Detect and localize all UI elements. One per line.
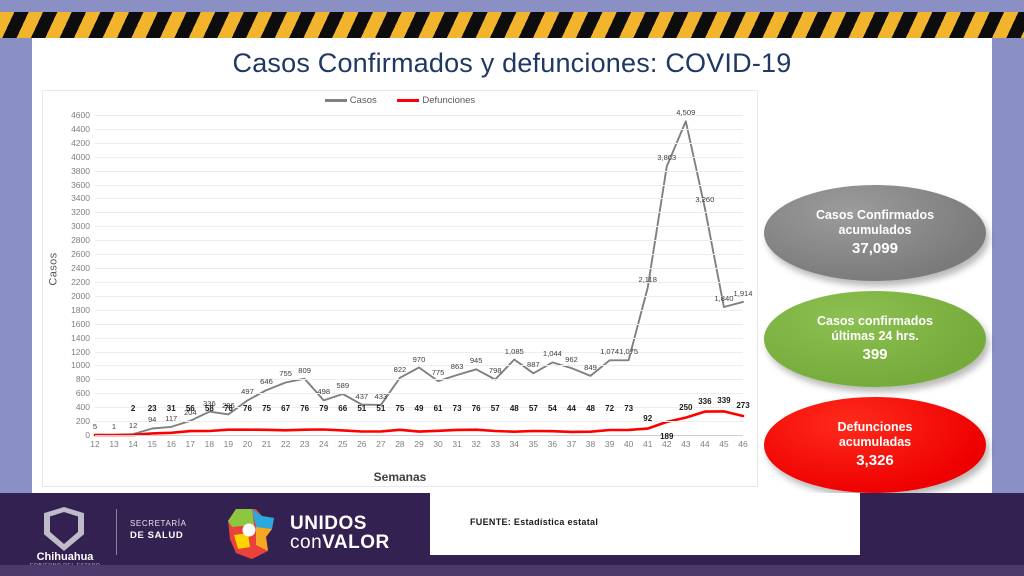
- x-axis-tick: 41: [643, 439, 652, 449]
- y-axis-tick: 2600: [71, 249, 90, 259]
- data-label-defunciones: 54: [548, 404, 557, 413]
- y-axis-tick: 200: [76, 416, 90, 426]
- data-label-casos: 1,075: [619, 347, 638, 356]
- y-axis-tick: 3200: [71, 207, 90, 217]
- data-label-defunciones: 31: [167, 404, 176, 413]
- data-label-casos: 437: [355, 392, 368, 401]
- data-label-casos: 887: [527, 360, 540, 369]
- data-label-defunciones: 273: [736, 401, 749, 410]
- y-axis-tick: 2800: [71, 235, 90, 245]
- data-label-defunciones: 51: [357, 404, 366, 413]
- data-label-defunciones: 67: [281, 404, 290, 413]
- slide-root: Casos Confirmados y defunciones: COVID-1…: [0, 0, 1024, 576]
- data-label-casos: 1,840: [714, 294, 733, 303]
- data-label-defunciones: 73: [453, 404, 462, 413]
- legend-swatch-casos: [325, 99, 347, 102]
- x-axis-tick: 15: [147, 439, 156, 449]
- data-label-defunciones: 23: [148, 404, 157, 413]
- gridline: [95, 157, 743, 158]
- secretaria-line2: DE SALUD: [130, 530, 183, 541]
- legend-item-casos: Casos: [325, 95, 377, 106]
- y-axis-tick: 4600: [71, 110, 90, 120]
- secretaria-line1: SECRETARÍA: [130, 519, 187, 528]
- x-axis-tick: 25: [338, 439, 347, 449]
- x-axis-tick: 30: [433, 439, 442, 449]
- callout-casos-acumulados: Casos Confirmados acumulados 37,099: [764, 185, 986, 281]
- gridline: [95, 115, 743, 116]
- x-axis-tick: 21: [262, 439, 271, 449]
- unidos-con-valor-map-icon: [222, 507, 280, 561]
- x-axis-tick: 14: [128, 439, 137, 449]
- data-label-casos: 822: [394, 365, 407, 374]
- data-label-casos: 849: [584, 363, 597, 372]
- x-axis-tick: 29: [414, 439, 423, 449]
- gridline: [95, 268, 743, 269]
- y-axis-tick: 2200: [71, 277, 90, 287]
- data-label-defunciones: 57: [491, 404, 500, 413]
- x-axis-tick: 44: [700, 439, 709, 449]
- gridline: [95, 226, 743, 227]
- legend-item-defunciones: Defunciones: [397, 95, 475, 106]
- x-axis-tick: 38: [586, 439, 595, 449]
- x-axis-tick: 40: [624, 439, 633, 449]
- x-axis-tick: 43: [681, 439, 690, 449]
- data-label-defunciones: 51: [376, 404, 385, 413]
- data-label-defunciones: 2: [131, 404, 135, 413]
- data-label-casos: 970: [413, 355, 426, 364]
- data-label-defunciones: 48: [510, 404, 519, 413]
- gridline: [95, 185, 743, 186]
- callout-value: 3,326: [856, 452, 894, 470]
- campaign-con-valor: conVALOR: [290, 532, 390, 554]
- data-label-defunciones: 73: [624, 404, 633, 413]
- x-axis-tick: 17: [186, 439, 195, 449]
- y-axis-tick: 1800: [71, 305, 90, 315]
- data-label-casos: 798: [489, 366, 502, 375]
- callout-defunciones-acumuladas: Defunciones acumuladas 3,326: [764, 397, 986, 493]
- x-axis-tick: 28: [395, 439, 404, 449]
- x-axis-tick: 34: [510, 439, 519, 449]
- data-label-casos: 962: [565, 355, 578, 364]
- y-axis-tick: 4400: [71, 124, 90, 134]
- data-label-casos: 1: [112, 422, 116, 431]
- y-axis-tick: 1400: [71, 333, 90, 343]
- x-axis-tick: 36: [548, 439, 557, 449]
- page-title: Casos Confirmados y defunciones: COVID-1…: [32, 48, 992, 79]
- x-axis-tick: 32: [471, 439, 480, 449]
- data-label-casos: 117: [165, 414, 177, 423]
- gridline: [95, 324, 743, 325]
- callout-value: 399: [862, 346, 887, 364]
- x-axis-tick: 26: [357, 439, 366, 449]
- y-axis-tick: 3400: [71, 193, 90, 203]
- gridline: [95, 171, 743, 172]
- data-label-defunciones: 44: [567, 404, 576, 413]
- data-label-casos: 945: [470, 356, 483, 365]
- gridline: [95, 296, 743, 297]
- data-label-defunciones: 76: [300, 404, 309, 413]
- chart-panel: Casos Defunciones Casos Semanas 02004006…: [42, 90, 758, 487]
- gridline: [95, 310, 743, 311]
- data-label-casos: 498: [317, 387, 330, 396]
- campaign-con: con: [290, 532, 322, 553]
- y-axis-tick: 1600: [71, 319, 90, 329]
- gridline: [95, 212, 743, 213]
- y-axis-tick: 4000: [71, 152, 90, 162]
- data-label-defunciones: 56: [186, 404, 195, 413]
- data-label-casos: 775: [432, 368, 445, 377]
- legend-label-defunciones: Defunciones: [422, 95, 475, 106]
- data-label-defunciones: 75: [262, 404, 271, 413]
- data-label-casos: 1,914: [733, 289, 752, 298]
- x-axis-tick: 33: [491, 439, 500, 449]
- x-axis-tick: 31: [452, 439, 461, 449]
- data-label-defunciones: 75: [395, 404, 404, 413]
- data-label-defunciones: 76: [224, 404, 233, 413]
- legend-label-casos: Casos: [350, 95, 377, 106]
- callout-casos-24hrs: Casos confirmados últimas 24 hrs. 399: [764, 291, 986, 387]
- footer-bar: FUENTE: Estadística estatal Chihuahua GO…: [0, 493, 1024, 576]
- gridline: [95, 379, 743, 380]
- x-axis-tick: 20: [243, 439, 252, 449]
- callout-value: 37,099: [852, 240, 898, 258]
- data-label-casos: 809: [298, 366, 311, 375]
- callout-group: Casos Confirmados acumulados 37,099 Caso…: [764, 143, 992, 483]
- x-axis-tick: 16: [167, 439, 176, 449]
- x-axis-tick: 19: [224, 439, 233, 449]
- x-axis-tick: 27: [376, 439, 385, 449]
- data-label-casos: 497: [241, 387, 254, 396]
- data-label-defunciones: 79: [319, 404, 328, 413]
- x-axis-tick: 37: [567, 439, 576, 449]
- x-axis-title: Semanas: [43, 470, 757, 484]
- callout-line2: acumuladas: [839, 435, 911, 450]
- callout-line1: Defunciones: [837, 420, 912, 435]
- gridline: [95, 435, 743, 436]
- gridline: [95, 129, 743, 130]
- gridline: [95, 352, 743, 353]
- chihuahua-shield-icon: [44, 507, 84, 551]
- data-label-defunciones: 250: [679, 403, 692, 412]
- callout-line2: acumulados: [839, 223, 912, 238]
- data-label-casos: 755: [279, 369, 292, 378]
- x-axis-tick: 23: [300, 439, 309, 449]
- x-axis-tick: 46: [738, 439, 747, 449]
- gridline: [95, 240, 743, 241]
- data-label-casos: 1,074: [600, 347, 619, 356]
- gridline: [95, 143, 743, 144]
- source-note: FUENTE: Estadística estatal: [470, 517, 598, 527]
- footer-accent-bar: [0, 565, 1024, 576]
- x-axis-tick: 12: [90, 439, 99, 449]
- content-card: Casos Confirmados y defunciones: COVID-1…: [32, 38, 992, 493]
- footer-divider: [116, 509, 117, 555]
- data-label-casos: 3,260: [695, 195, 714, 204]
- y-axis-tick: 3800: [71, 166, 90, 176]
- data-label-casos: 433: [375, 392, 388, 401]
- y-axis-tick: 2000: [71, 291, 90, 301]
- legend-swatch-defunciones: [397, 99, 419, 102]
- x-axis-tick: 45: [719, 439, 728, 449]
- callout-line1: Casos confirmados: [817, 314, 933, 329]
- y-axis-tick: 4200: [71, 138, 90, 148]
- data-label-defunciones: 57: [529, 404, 538, 413]
- data-label-defunciones: 76: [472, 404, 481, 413]
- data-label-defunciones: 92: [643, 414, 652, 423]
- plot-area: 0200400600800100012001400160018002000220…: [95, 115, 743, 435]
- gridline: [95, 338, 743, 339]
- y-axis-tick: 3000: [71, 221, 90, 231]
- data-label-casos: 646: [260, 377, 273, 386]
- data-label-defunciones: 339: [717, 396, 730, 405]
- x-axis-tick: 35: [529, 439, 538, 449]
- gridline: [95, 254, 743, 255]
- shield-inner: [50, 512, 78, 544]
- x-axis-tick: 13: [109, 439, 118, 449]
- y-axis-tick: 2400: [71, 263, 90, 273]
- data-label-defunciones: 49: [415, 404, 424, 413]
- chart-legend: Casos Defunciones: [43, 95, 757, 106]
- data-label-casos: 12: [129, 421, 137, 430]
- gridline: [95, 198, 743, 199]
- x-axis-tick: 22: [281, 439, 290, 449]
- data-label-defunciones: 66: [338, 404, 347, 413]
- y-axis-tick: 400: [76, 402, 90, 412]
- x-axis-tick: 39: [605, 439, 614, 449]
- data-label-defunciones: 76: [243, 404, 252, 413]
- hazard-stripe-band: [0, 12, 1024, 38]
- data-label-defunciones: 61: [434, 404, 443, 413]
- data-label-casos: 5: [93, 422, 97, 431]
- data-label-defunciones: 48: [586, 404, 595, 413]
- x-axis-tick: 24: [319, 439, 328, 449]
- data-label-defunciones: 189: [660, 432, 673, 441]
- data-label-casos: 3,863: [657, 153, 676, 162]
- state-name: Chihuahua: [26, 551, 104, 563]
- gridline: [95, 393, 743, 394]
- callout-line1: Casos Confirmados: [816, 208, 934, 223]
- y-axis-title: Casos: [48, 252, 60, 285]
- data-label-casos: 1,085: [505, 347, 524, 356]
- y-axis-tick: 600: [76, 388, 90, 398]
- y-axis-tick: 1000: [71, 360, 90, 370]
- data-label-casos: 4,509: [676, 108, 695, 117]
- data-label-casos: 863: [451, 362, 464, 371]
- campaign-valor: VALOR: [322, 532, 390, 553]
- data-label-casos: 2,118: [638, 275, 656, 284]
- gridline: [95, 365, 743, 366]
- y-axis-tick: 800: [76, 374, 90, 384]
- data-label-defunciones: 58: [205, 404, 214, 413]
- data-label-casos: 94: [148, 415, 156, 424]
- y-axis-tick: 3600: [71, 180, 90, 190]
- callout-line2: últimas 24 hrs.: [831, 329, 919, 344]
- data-label-casos: 1,044: [543, 349, 562, 358]
- data-label-defunciones: 72: [605, 404, 614, 413]
- data-label-defunciones: 336: [698, 397, 711, 406]
- data-label-casos: 589: [336, 381, 349, 390]
- x-axis-tick: 18: [205, 439, 214, 449]
- y-axis-tick: 1200: [71, 347, 90, 357]
